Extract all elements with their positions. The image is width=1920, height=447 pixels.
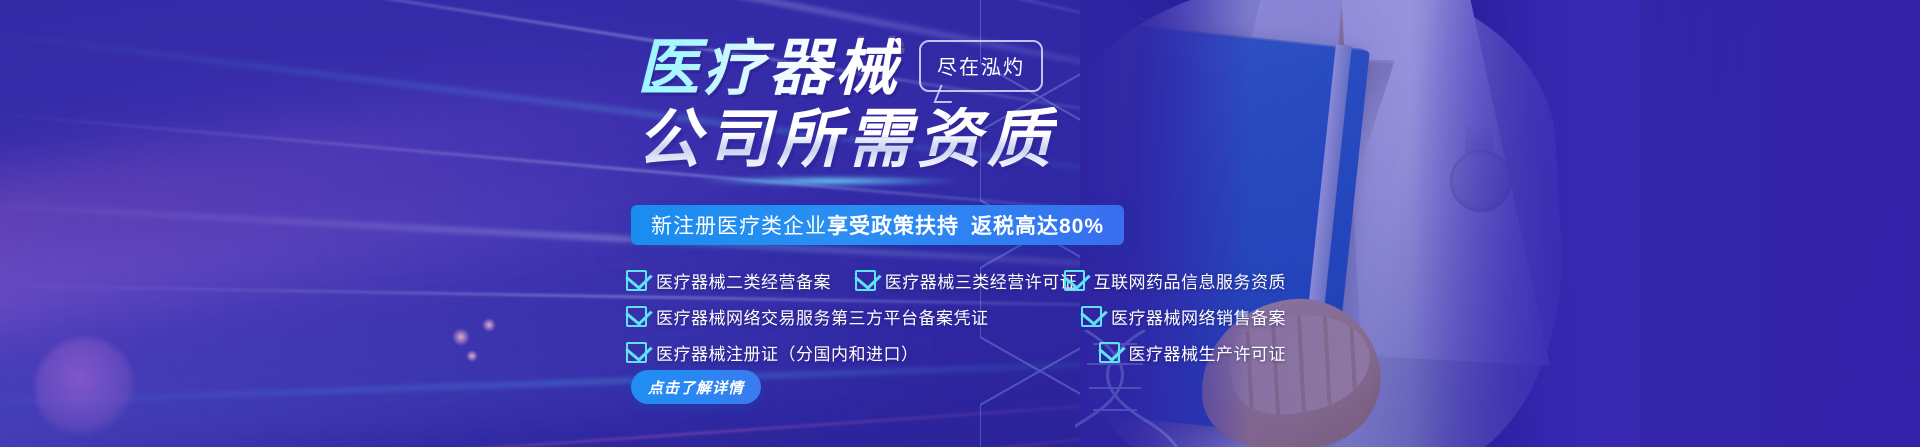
checklist-row: 医疗器械注册证（分国内和进口） 医疗器械生产许可证 [626, 340, 1286, 365]
checklist-item[interactable]: 医疗器械生产许可证 [1099, 340, 1287, 365]
checklist-item[interactable]: 医疗器械网络销售备案 [1081, 304, 1286, 329]
check-icon [1064, 270, 1085, 291]
learn-more-button[interactable]: 点击了解详情 [631, 370, 761, 404]
checklist-item-label: 互联网药品信息服务资质 [1094, 268, 1287, 293]
learn-more-button-label: 点击了解详情 [648, 377, 744, 398]
headline-secondary: 公司所需资质 [637, 107, 1057, 171]
checklist-item[interactable]: 医疗器械三类经营许可证 [855, 268, 1025, 293]
promo-prefix: 新注册医疗类企业 [651, 210, 827, 240]
check-icon [626, 342, 647, 363]
checklist-item[interactable]: 医疗器械网络交易服务第三方平台备案凭证 [626, 304, 1081, 329]
check-icon [1099, 342, 1120, 363]
checklist-item-label: 医疗器械网络销售备案 [1111, 304, 1286, 329]
banner-content: 医疗器械 尽在泓灼 公司所需资质 新注册医疗类企业享受政策扶持返税高达80% 医… [0, 0, 1920, 447]
checklist-row: 医疗器械二类经营备案 医疗器械三类经营许可证 互联网药品信息服务资质 [626, 268, 1286, 293]
headline-primary: 医疗器械 [637, 38, 901, 100]
brand-badge-label: 尽在泓灼 [937, 57, 1025, 79]
check-icon [855, 270, 876, 291]
checklist-item[interactable]: 医疗器械二类经营备案 [626, 268, 798, 293]
checklist-item-label: 医疗器械生产许可证 [1129, 340, 1287, 365]
checklist-item-label: 医疗器械注册证（分国内和进口） [656, 340, 919, 365]
headline-row: 医疗器械 尽在泓灼 [637, 38, 1043, 100]
headline-underglow [700, 176, 960, 186]
medical-device-qualification-banner: 医疗器械 尽在泓灼 公司所需资质 新注册医疗类企业享受政策扶持返税高达80% 医… [0, 0, 1920, 447]
promo-suffix: 返税高达80% [971, 210, 1104, 240]
promo-emphasis: 享受政策扶持 [827, 210, 959, 240]
check-icon [1081, 306, 1102, 327]
brand-badge: 尽在泓灼 [919, 40, 1043, 92]
checklist-row: 医疗器械网络交易服务第三方平台备案凭证 医疗器械网络销售备案 [626, 304, 1286, 329]
check-icon [626, 306, 647, 327]
checklist-item-label: 医疗器械网络交易服务第三方平台备案凭证 [656, 304, 989, 329]
check-icon [626, 270, 647, 291]
qualification-checklist: 医疗器械二类经营备案 医疗器械三类经营许可证 互联网药品信息服务资质 [626, 268, 1286, 376]
checklist-item[interactable]: 医疗器械注册证（分国内和进口） [626, 340, 1099, 365]
promo-subtitle-bar: 新注册医疗类企业享受政策扶持返税高达80% [631, 205, 1124, 245]
checklist-item[interactable]: 互联网药品信息服务资质 [1064, 268, 1287, 293]
